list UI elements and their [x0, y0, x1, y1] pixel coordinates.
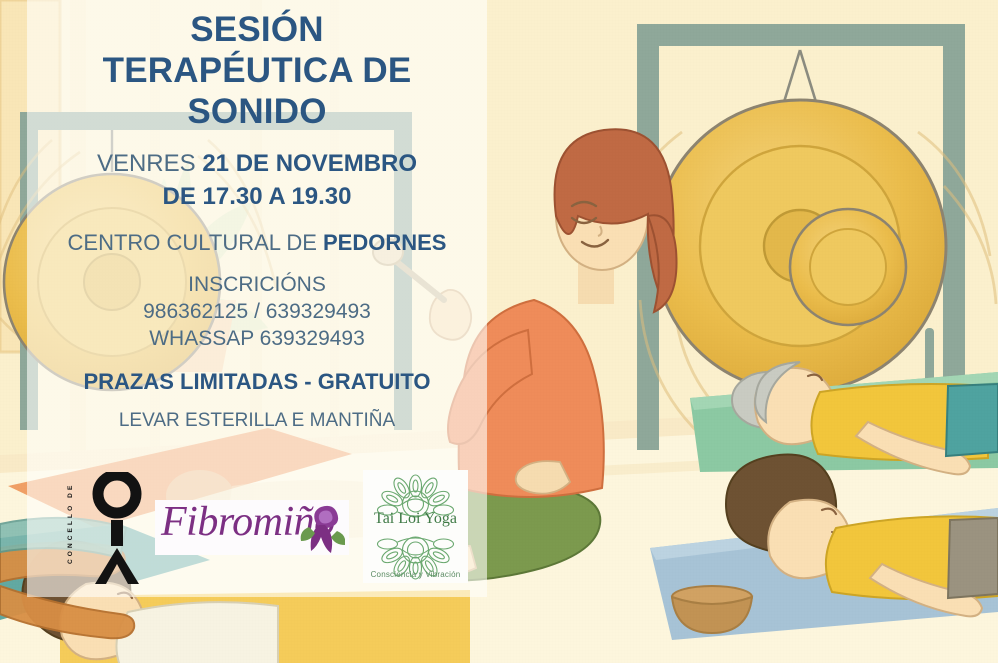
- logo-fibromino[interactable]: Fibromiño: [155, 500, 349, 555]
- logo-tai-loi-yoga[interactable]: Tai Loi Yoga Consciencia y Vibración: [363, 470, 468, 583]
- notice-bring-items: LEVAR ESTERILLA E MANTIÑA: [27, 395, 487, 433]
- title-line-3: SONIDO: [187, 92, 326, 131]
- enrollment-label: INSCRICIÓNS: [188, 273, 326, 296]
- sponsor-logo-strip: CONCELLO DE Fibromiño: [27, 466, 487, 591]
- enrollment-info: INSCRICIÓNS 986362125 / 639329493 WHASSA…: [27, 257, 487, 352]
- date-prefix: VENRES: [97, 150, 202, 177]
- oia-vertical-label: CONCELLO DE: [67, 480, 74, 564]
- enrollment-phones: 986362125 / 639329493: [143, 300, 371, 323]
- event-venue: CENTRO CULTURAL DE PEDORNES: [27, 213, 487, 257]
- oia-wordmark-icon: [87, 472, 147, 584]
- enrollment-whatsapp: WHASSAP 639329493: [149, 327, 365, 350]
- tai-loi-yoga-tagline: Consciencia y Vibración: [363, 570, 468, 579]
- venue-prefix: CENTRO CULTURAL DE: [68, 230, 323, 255]
- date-time: DE 17.30 A 19.30: [162, 183, 351, 210]
- venue-place: PEDORNES: [323, 230, 446, 255]
- rose-ribbon-icon: [297, 501, 345, 553]
- page-title: SESIÓN TERAPÉUTICA DE SONIDO: [27, 0, 487, 132]
- poster-canvas: SESIÓN TERAPÉUTICA DE SONIDO VENRES 21 D…: [0, 0, 998, 663]
- tai-loi-yoga-name: Tai Loi Yoga: [363, 510, 468, 528]
- date-day: 21 DE NOVEMBRO: [202, 150, 417, 177]
- title-line-2: TERAPÉUTICA DE: [103, 51, 412, 90]
- logo-concello-de-oia[interactable]: CONCELLO DE: [65, 472, 155, 584]
- notice-limited-places: PRAZAS LIMITADAS - GRATUITO: [27, 352, 487, 395]
- title-line-1: SESIÓN: [190, 10, 323, 49]
- event-date: VENRES 21 DE NOVEMBRO DE 17.30 A 19.30: [27, 132, 487, 213]
